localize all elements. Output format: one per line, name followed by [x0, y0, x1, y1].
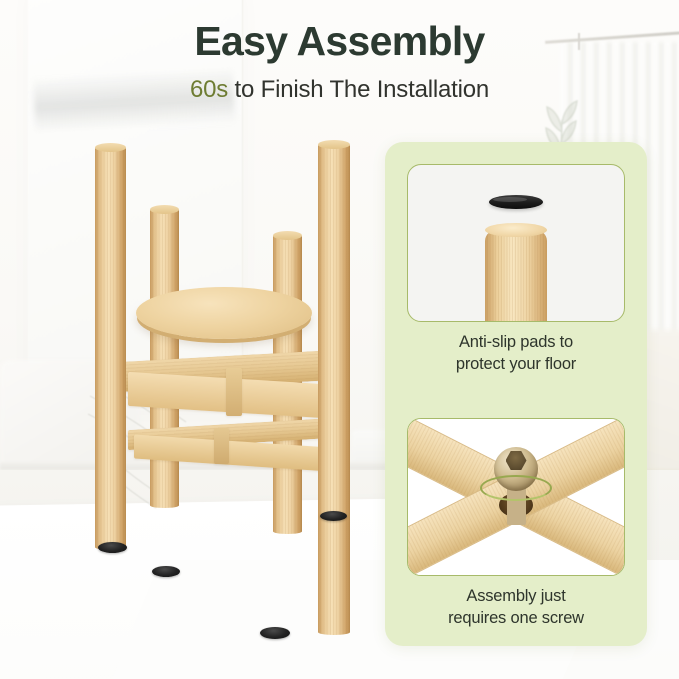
cross-base-icon [408, 419, 624, 575]
foot-pad-front-left [98, 542, 127, 553]
page-title: Easy Assembly [0, 18, 679, 65]
feature-card-one-screw-caption: Assembly just requires one screw [393, 586, 639, 630]
stand-upper-brace-notch [226, 368, 242, 416]
caption-line-2: requires one screw [393, 608, 639, 630]
stand-leg-front-right [318, 143, 350, 635]
foot-pad-back-left [152, 566, 180, 577]
foot-pad-front-right [260, 627, 290, 639]
caption-line-1: Assembly just [393, 586, 639, 608]
anti-slip-pad-icon [489, 195, 543, 209]
subtitle-highlight: 60s [190, 76, 228, 103]
wooden-leg-icon [485, 229, 547, 322]
rotation-arrow-icon [480, 475, 552, 501]
feature-panel: Anti-slip pads to protect your floor Ass… [385, 142, 647, 646]
page-subtitle: 60s to Finish The Installation [0, 76, 679, 104]
feature-card-one-screw [407, 418, 625, 576]
product-marketing-image: Easy Assembly 60s to Finish The Installa… [0, 0, 679, 679]
stand-top-shelf [136, 287, 312, 339]
stand-leg-front-left [95, 146, 126, 550]
feature-card-anti-slip [407, 164, 625, 322]
feature-card-anti-slip-caption: Anti-slip pads to protect your floor [393, 332, 639, 376]
subtitle-rest: to Finish The Installation [228, 76, 489, 103]
foot-pad-back-right [320, 511, 347, 521]
caption-line-1: Anti-slip pads to [393, 332, 639, 354]
caption-line-2: protect your floor [393, 354, 639, 376]
wooden-leg-top-icon [485, 223, 547, 237]
stand-lower-brace-notch [214, 428, 229, 464]
